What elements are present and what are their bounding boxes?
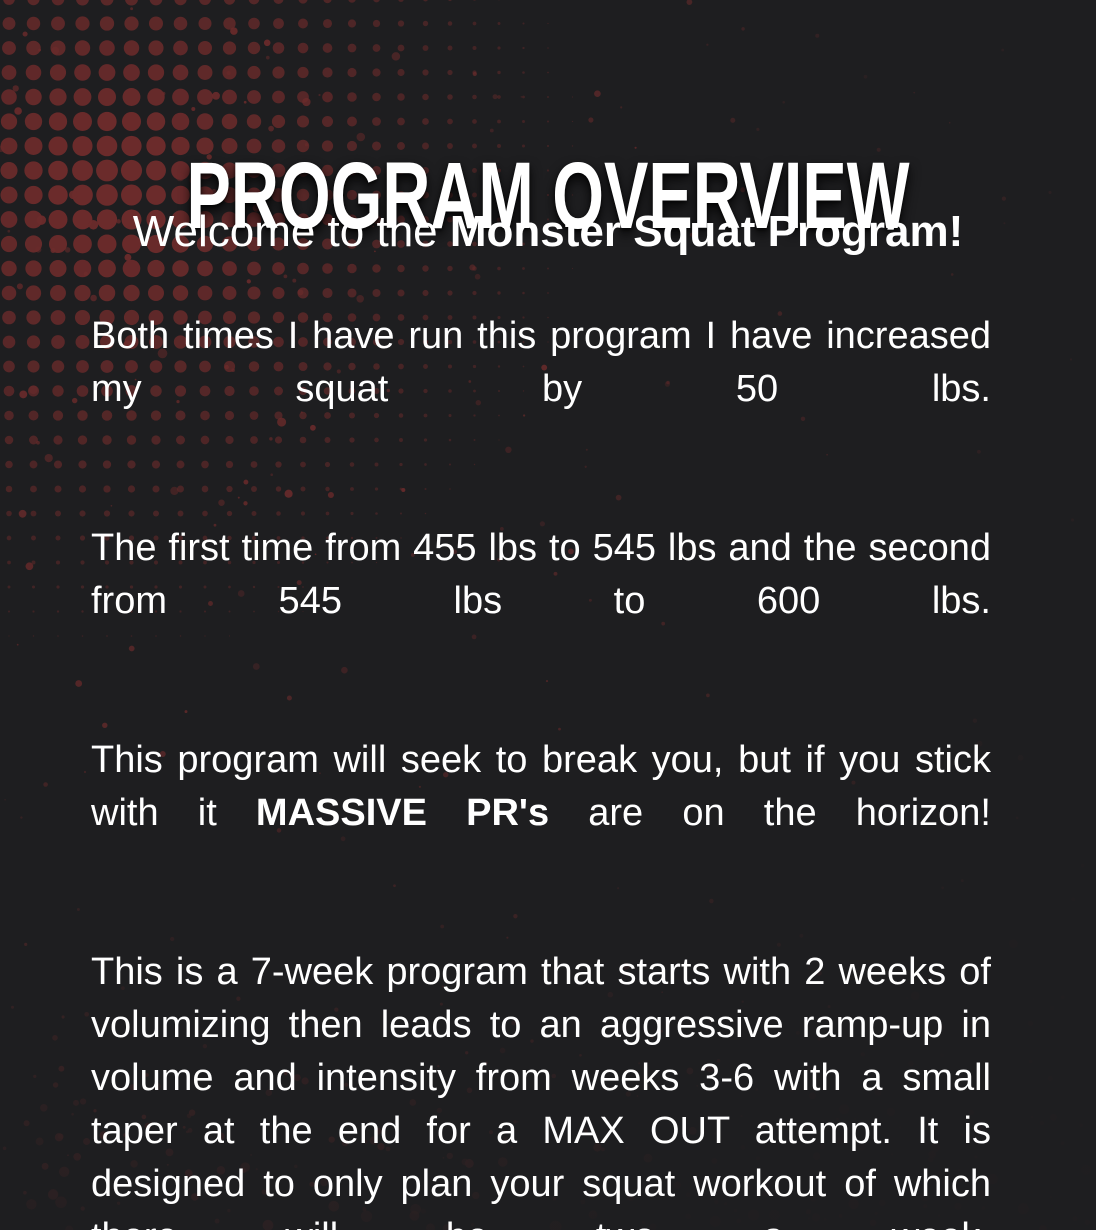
program-overview-page: PROGRAM OVERVIEW Welcome to the Monster … (0, 0, 1096, 1230)
paragraph-text: are on the horizon! (549, 792, 991, 834)
emphasis-text: MASSIVE PR's (256, 792, 549, 834)
para-structure: This is a 7-week program that starts wit… (91, 946, 991, 1230)
body-text: Both times I have run this program I hav… (91, 310, 991, 1230)
subtitle-emphasis: Monster Squat Program! (450, 207, 963, 256)
content-area: PROGRAM OVERVIEW Welcome to the Monster … (0, 0, 1096, 1230)
page-subtitle: Welcome to the Monster Squat Program! (0, 204, 1096, 260)
para-numbers: The first time from 455 lbs to 545 lbs a… (91, 522, 991, 681)
paragraph-text: Both times I have run this program I hav… (91, 315, 991, 410)
para-results: Both times I have run this program I hav… (91, 310, 991, 469)
paragraph-text: This is a 7-week program that starts wit… (91, 951, 991, 1230)
paragraph-text: The first time from 455 lbs to 545 lbs a… (91, 527, 991, 622)
subtitle-prefix: Welcome to the (133, 207, 450, 256)
para-motivation: This program will seek to break you, but… (91, 734, 991, 893)
